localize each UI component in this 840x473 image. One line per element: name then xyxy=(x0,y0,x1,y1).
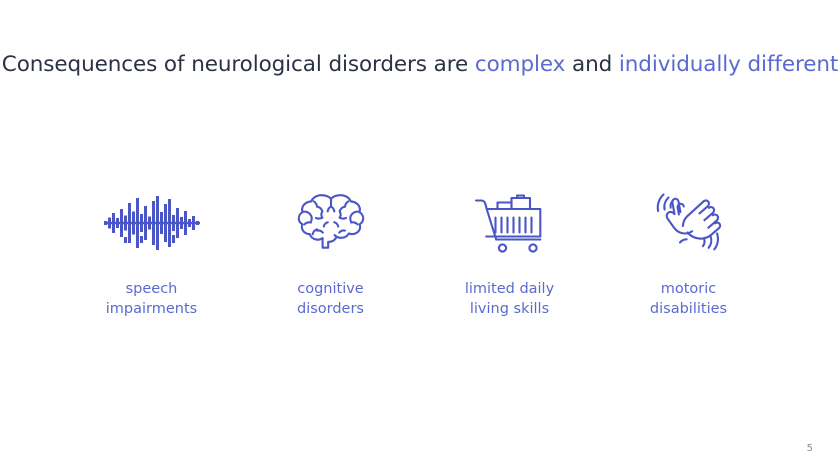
list-item-label: speech impairments xyxy=(106,280,197,319)
page-title: Consequences of neurological disorders a… xyxy=(0,50,840,80)
slide: Consequences of neurological disorders a… xyxy=(0,0,840,473)
list-item-motoric-disabilities: motoric disabilities xyxy=(599,185,778,319)
title-segment-2: and xyxy=(565,52,619,77)
title-accent-complex: complex xyxy=(475,52,565,77)
shopping-cart-icon xyxy=(460,185,560,261)
list-item-label: motoric disabilities xyxy=(650,280,727,319)
list-item-cognitive-disorders: cognitive disorders xyxy=(241,185,420,319)
consequences-list: speech impairments xyxy=(62,185,778,319)
list-item-label: limited daily living skills xyxy=(465,280,554,319)
page-number: 5 xyxy=(807,443,813,455)
list-item-limited-daily-living-skills: limited daily living skills xyxy=(420,185,599,319)
speech-waveform-icon xyxy=(102,185,202,261)
shaking-hands-icon xyxy=(639,185,739,261)
title-segment-1: Consequences of neurological disorders a… xyxy=(2,52,475,77)
title-accent-individually-different: individually different xyxy=(619,52,838,77)
list-item-label: cognitive disorders xyxy=(297,280,364,319)
list-item-speech-impairments: speech impairments xyxy=(62,185,241,319)
brain-icon xyxy=(281,185,381,261)
